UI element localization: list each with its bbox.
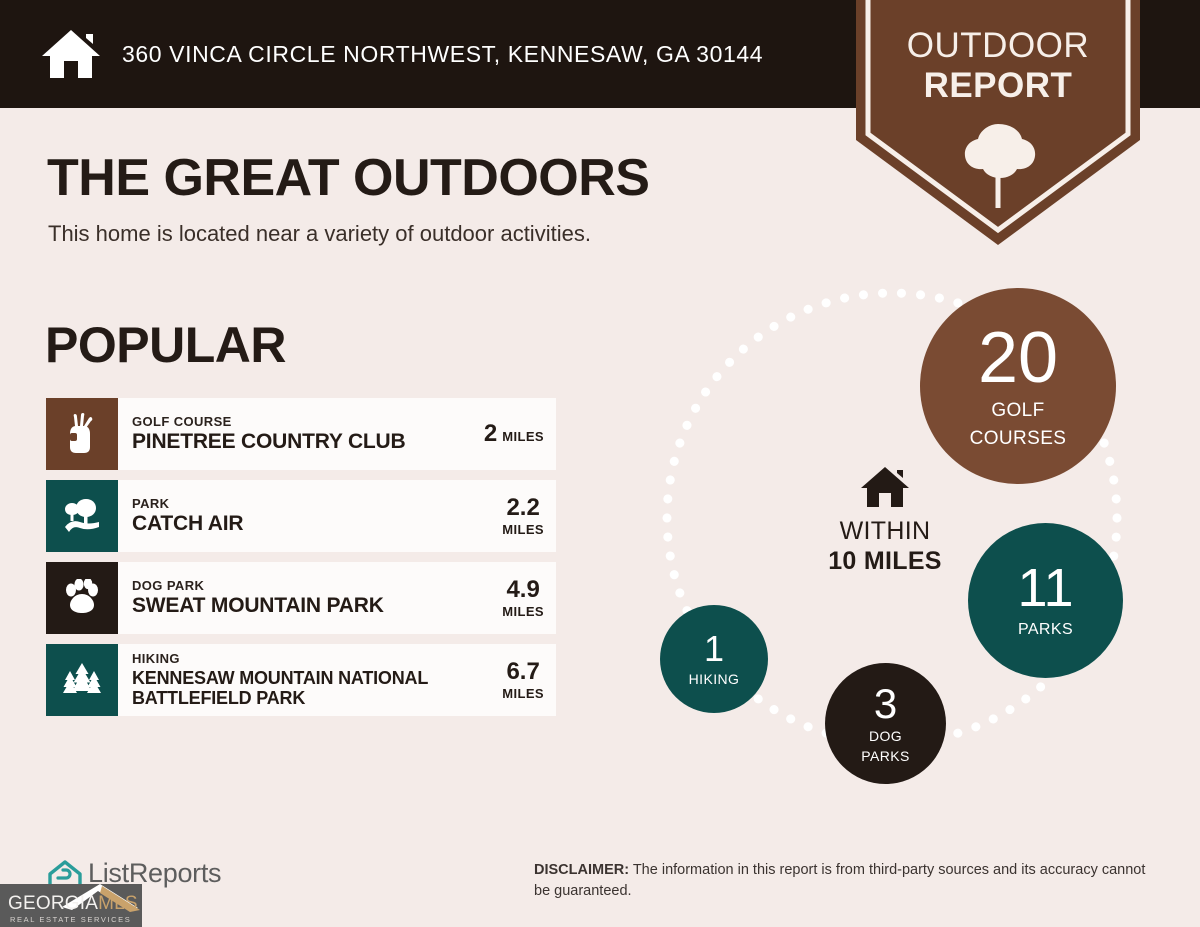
list-item-distance: 4.9 MILES [494,578,550,619]
list-item-name: SWEAT MOUNTAIN PARK [132,595,494,618]
bubble-label-line1: GOLF [991,401,1044,420]
page-title: THE GREAT OUTDOORS [47,148,649,208]
distance-unit: MILES [502,686,544,701]
bubble-label-line1: DOG [869,729,902,743]
georgia-mls-logo: GEORGIAMLS REAL ESTATE SERVICES [0,884,142,927]
distance-value: 2 [484,422,497,446]
distance-value: 2.2 [502,496,544,520]
georgia-mls-wordmark: GEORGIAMLS [8,893,138,915]
list-item[interactable]: PARK CATCH AIR 2.2 MILES [46,480,556,552]
list-item-name: PINETREE COUNTRY CLUB [132,431,476,454]
home-icon [859,465,911,509]
list-item-category: DOG PARK [132,579,494,594]
georgia-text: GEORGIA [8,893,98,914]
list-item-name: CATCH AIR [132,513,494,536]
distance-unit: MILES [502,429,544,444]
paw-print-icon [46,562,118,634]
bubble-parks[interactable]: 11 PARKS [968,523,1123,678]
bubble-golf-courses[interactable]: 20 GOLF COURSES [920,288,1116,484]
park-trees-icon [46,480,118,552]
bubble-value: 1 [704,632,724,666]
mls-text: MLS [98,893,138,914]
list-item-category: PARK [132,497,494,512]
bubble-hiking[interactable]: 1 HIKING [660,605,768,713]
bubble-label-line2: PARKS [861,749,909,763]
distance-value: 6.7 [502,660,544,684]
bubble-value: 11 [1017,563,1073,614]
bubble-label-line1: HIKING [689,672,740,686]
distance-unit: MILES [502,522,544,537]
list-item-distance: 2.2 MILES [494,496,550,537]
list-item-category: HIKING [132,652,494,667]
bubble-label-line2: COURSES [970,429,1067,448]
bubble-value: 3 [874,684,897,724]
list-item-distance: 6.7 MILES [494,660,550,701]
center-line-1: WITHIN [795,517,975,546]
pine-trees-icon [46,644,118,716]
distance-value: 4.9 [502,578,544,602]
bubble-value: 20 [978,324,1058,392]
bubble-dog-parks[interactable]: 3 DOG PARKS [825,663,946,784]
list-item[interactable]: GOLF COURSE PINETREE COUNTRY CLUB 2 MILE… [46,398,556,470]
popular-section-heading: POPULAR [45,316,286,374]
list-item[interactable]: DOG PARK SWEAT MOUNTAIN PARK 4.9 MILES [46,562,556,634]
georgia-mls-tagline: REAL ESTATE SERVICES [10,915,131,924]
distance-unit: MILES [502,604,544,619]
disclaimer-label: DISCLAIMER: [534,862,629,878]
chart-center-label: WITHIN 10 MILES [795,465,975,576]
golf-bag-icon [46,398,118,470]
list-item-name: KENNESAW MOUNTAIN NATIONAL BATTLEFIELD P… [132,668,494,708]
disclaimer-text: DISCLAIMER: The information in this repo… [534,860,1159,901]
property-address: 360 VINCA CIRCLE NORTHWEST, KENNESAW, GA… [122,41,763,68]
bubble-label-line1: PARKS [1018,622,1073,638]
center-line-2: 10 MILES [795,547,975,576]
popular-list: GOLF COURSE PINETREE COUNTRY CLUB 2 MILE… [46,398,556,726]
page-subtitle: This home is located near a variety of o… [48,221,591,247]
list-item[interactable]: HIKING KENNESAW MOUNTAIN NATIONAL BATTLE… [46,644,556,716]
within-10-miles-chart: 20 GOLF COURSES 11 PARKS 3 DOG PARKS 1 H… [620,270,1180,810]
list-item-category: GOLF COURSE [132,415,476,430]
outdoor-report-badge: OUTDOOR REPORT [856,0,1140,245]
home-icon [40,28,102,80]
list-item-distance: 2 MILES [476,422,550,446]
